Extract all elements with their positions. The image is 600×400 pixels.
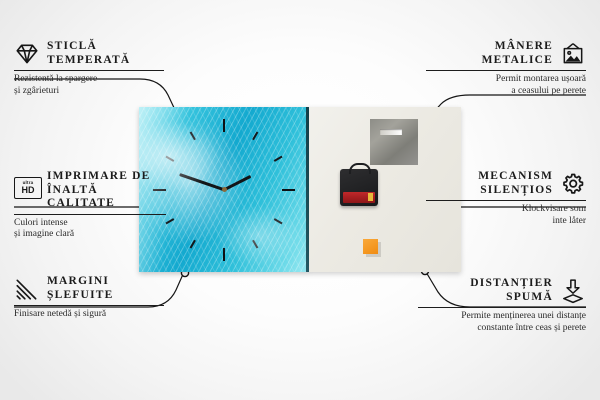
clock-hour-hand [223,174,251,190]
callout-rule [14,70,164,71]
feature-title-line2: METALICE [482,54,553,68]
feature-desc-line1: Finisare netedă și sigură [14,309,164,321]
callout-metal-handles: MÂNERE METALICE Permit montarea ușoară a… [426,40,586,97]
infographic-canvas: STICLĂ TEMPERATĂ Rezistentă la spargere … [0,0,600,400]
feature-title-line2: SPUMĂ [470,291,553,305]
callout-print-quality: ultraHD IMPRIMARE DE ÎNALTĂ CALITATE Cul… [14,170,166,241]
feature-title-line1: DISTANȚIER [470,277,553,291]
callout-silent-mechanism: MECANISM SILENȚIOS Klockvisare som inte … [426,170,586,227]
feature-desc-line2: constante între ceas și perete [418,323,586,335]
gear-icon [560,171,586,197]
product-image [139,107,461,272]
foam-spacer-pad [363,239,378,254]
feature-title-line2: ȘLEFUITE [47,289,113,303]
ultra-hd-icon: ultraHD [14,177,40,203]
feature-desc-line2: și imagine clară [14,229,166,241]
feature-title-line1: STICLĂ [47,40,130,54]
feature-desc-line2: inte låter [426,216,586,228]
picture-hanger-icon [560,41,586,67]
clock-minute-hand [179,173,224,191]
callout-rule [14,214,166,215]
feature-desc-line1: Culori intense [14,218,166,230]
mechanism-loop [349,163,371,174]
callout-tempered-glass: STICLĂ TEMPERATĂ Rezistentă la spargere … [14,40,164,97]
feature-title-line1: MECANISM [478,170,553,184]
hanger-slot [380,129,402,135]
callout-foam-spacer: DISTANȚIER SPUMĂ Permite menținerea unei… [418,277,586,334]
callout-rule [14,305,164,306]
callout-rule [426,70,586,71]
clock-center-pin [222,187,227,192]
callout-rule [426,200,586,201]
callout-rule [418,307,586,308]
metal-hanger-plate [370,119,418,165]
feature-title-line2: SILENȚIOS [478,184,553,198]
feature-title-line1: MÂNERE [482,40,553,54]
feature-desc-line1: Permit montarea ușoară [426,74,586,86]
feature-desc-line2: și zgârieturi [14,86,164,98]
feature-desc-line1: Klockvisare som [426,204,586,216]
feature-title-line2: TEMPERATĂ [47,54,130,68]
diamond-icon [14,41,40,67]
callout-polished-edges: MARGINI ȘLEFUITE Finisare netedă și sigu… [14,275,164,321]
feature-title-line1: MARGINI [47,275,113,289]
feature-desc-line2: a ceasului pe perete [426,86,586,98]
diagonal-lines-icon [14,276,40,302]
feature-desc-line1: Rezistentă la spargere [14,74,164,86]
feature-desc-line1: Permite menținerea unei distanțe [418,311,586,323]
battery [343,192,375,203]
feature-title-line2: ÎNALTĂ CALITATE [47,184,166,211]
feature-title-line1: IMPRIMARE DE [47,170,166,184]
clock-mechanism [340,169,378,206]
press-down-icon [560,278,586,304]
